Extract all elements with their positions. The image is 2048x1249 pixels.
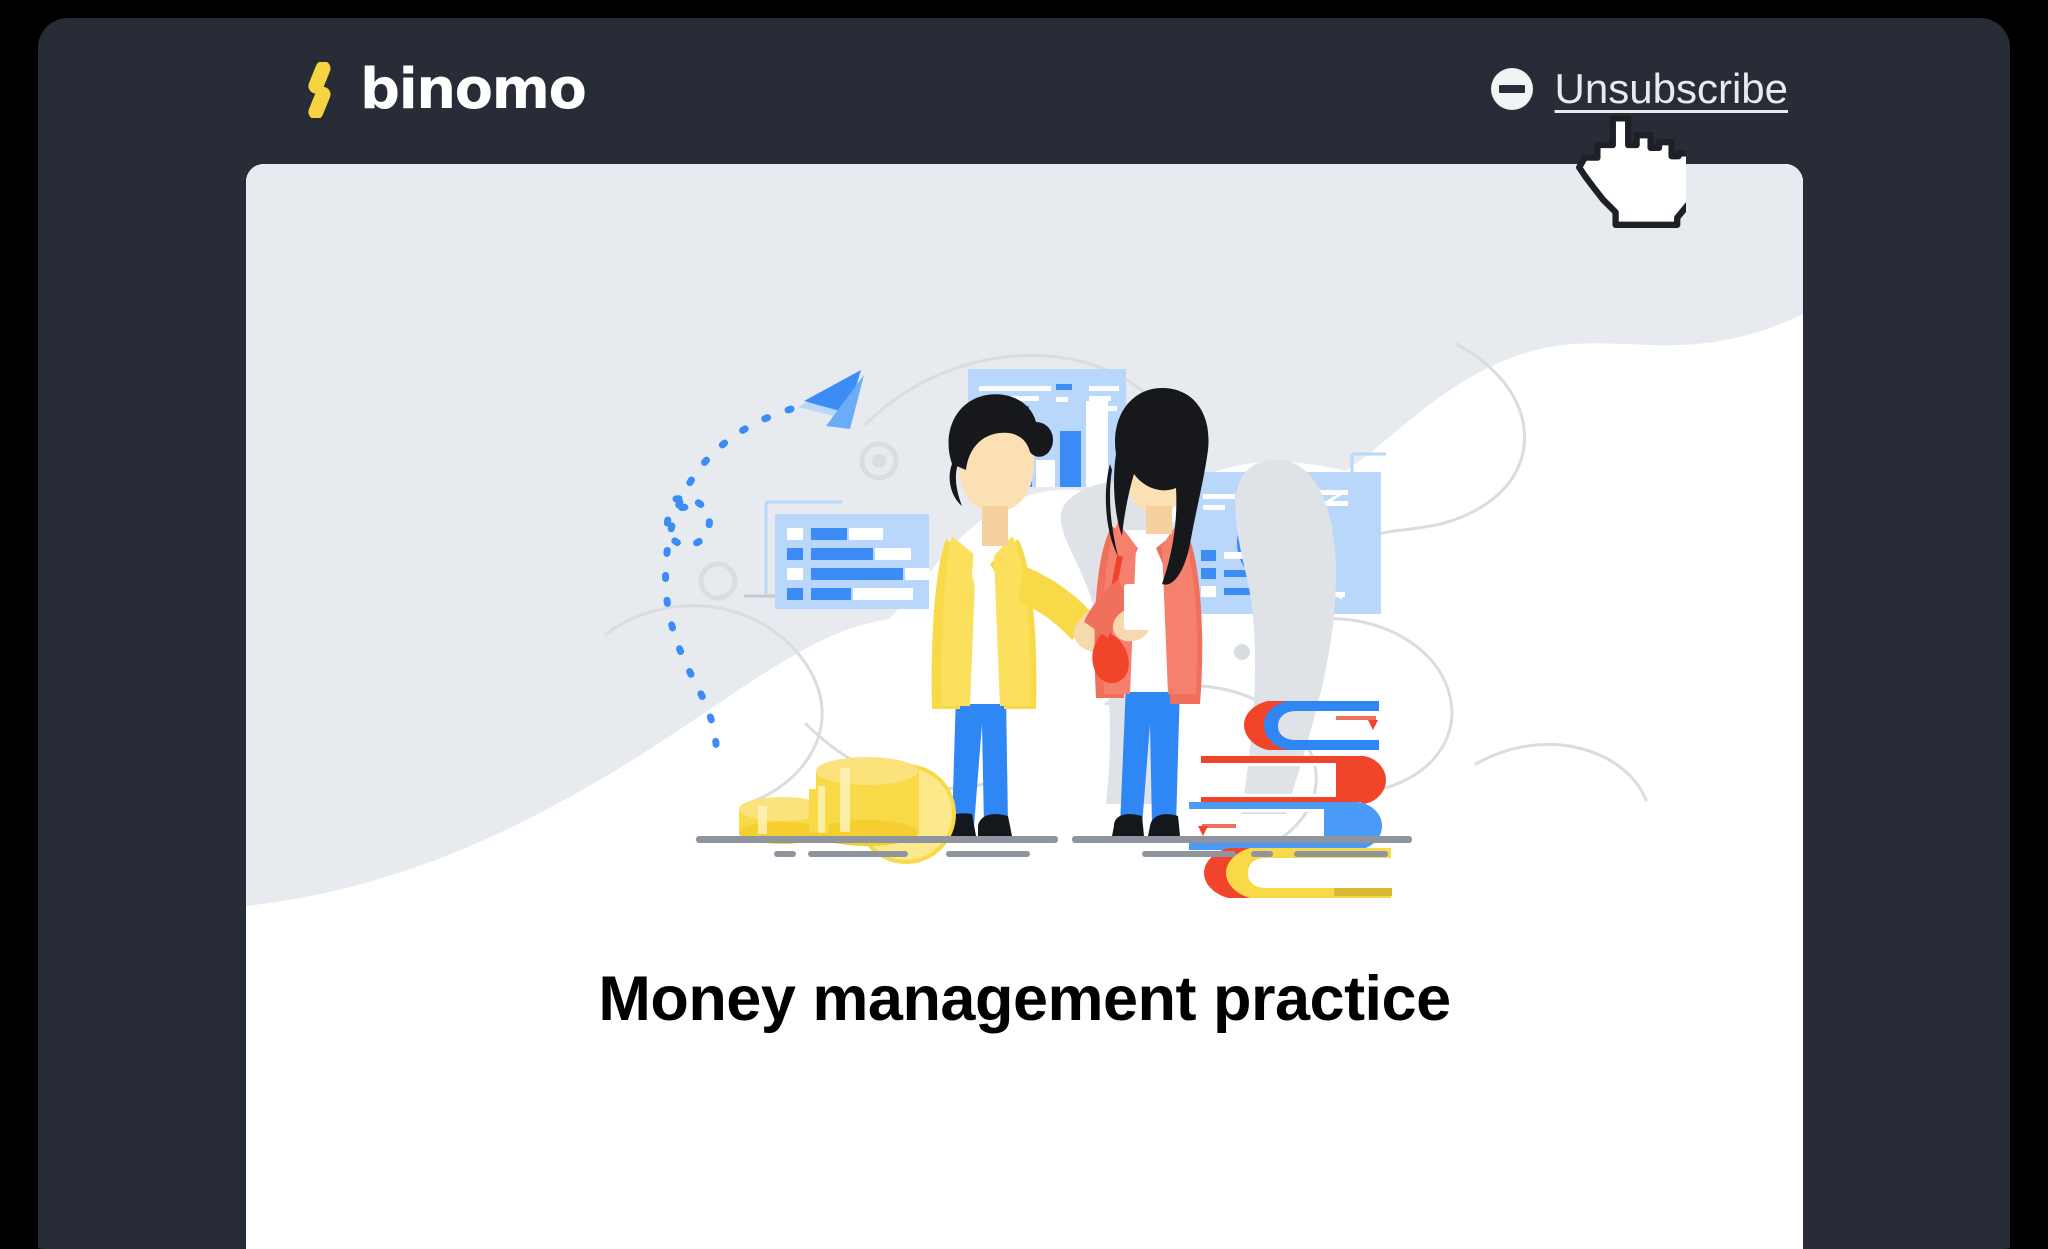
email-content-card: Money management practice The Binomo pla…: [246, 164, 1803, 1249]
email-panel: binomo Unsubscribe: [38, 18, 2010, 1249]
hero-illustration: [246, 164, 1803, 924]
brand-logo[interactable]: binomo: [296, 62, 585, 118]
circle-minus-icon: [1489, 66, 1535, 112]
unsubscribe-button[interactable]: Unsubscribe: [1489, 66, 1788, 112]
article-title: Money management practice: [246, 961, 1803, 1037]
brand-name: binomo: [360, 62, 585, 118]
two-people-handshake-finance-illustration: [246, 164, 1803, 924]
device-frame: binomo Unsubscribe: [0, 0, 2048, 1249]
email-header: binomo Unsubscribe: [38, 18, 2010, 160]
binomo-slash-logo-icon: [296, 62, 342, 118]
unsubscribe-label[interactable]: Unsubscribe: [1555, 66, 1788, 112]
screenshot-root: binomo Unsubscribe: [0, 0, 2048, 1249]
